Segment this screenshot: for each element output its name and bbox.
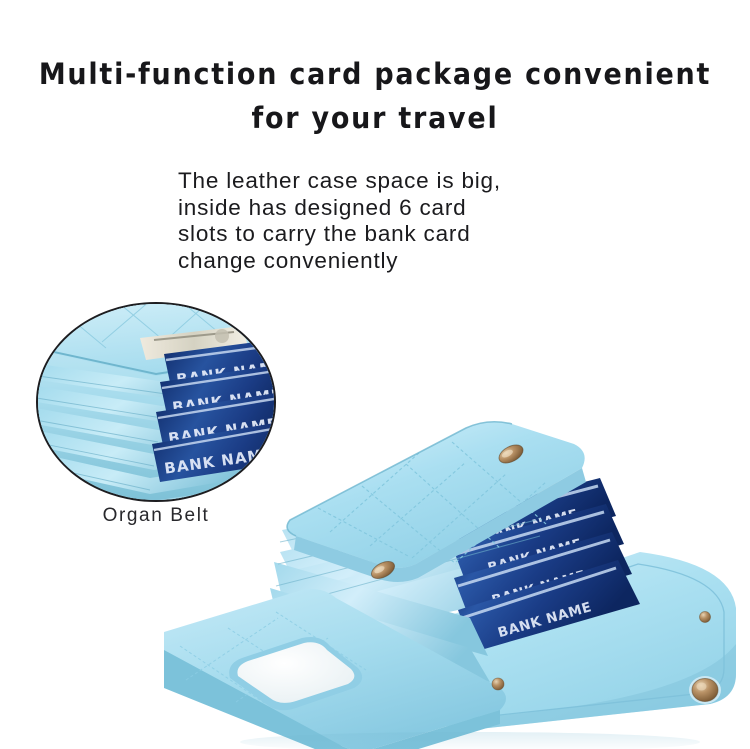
wallet-phone-case-photo: BANK NAME BANK NAME BANK NAME (170, 412, 750, 749)
snap-button (689, 676, 721, 704)
product-banner: Multi-function card package convenient f… (0, 0, 750, 749)
phone-case-shell (164, 589, 506, 749)
snap-button (700, 612, 711, 623)
page-title: Multi-function card package convenient f… (26, 52, 724, 140)
product-description: The leather case space is big, inside ha… (178, 168, 608, 274)
snap-button (492, 678, 504, 690)
product-image: BANK NAME BANK NAME BANK NAME (170, 412, 750, 749)
